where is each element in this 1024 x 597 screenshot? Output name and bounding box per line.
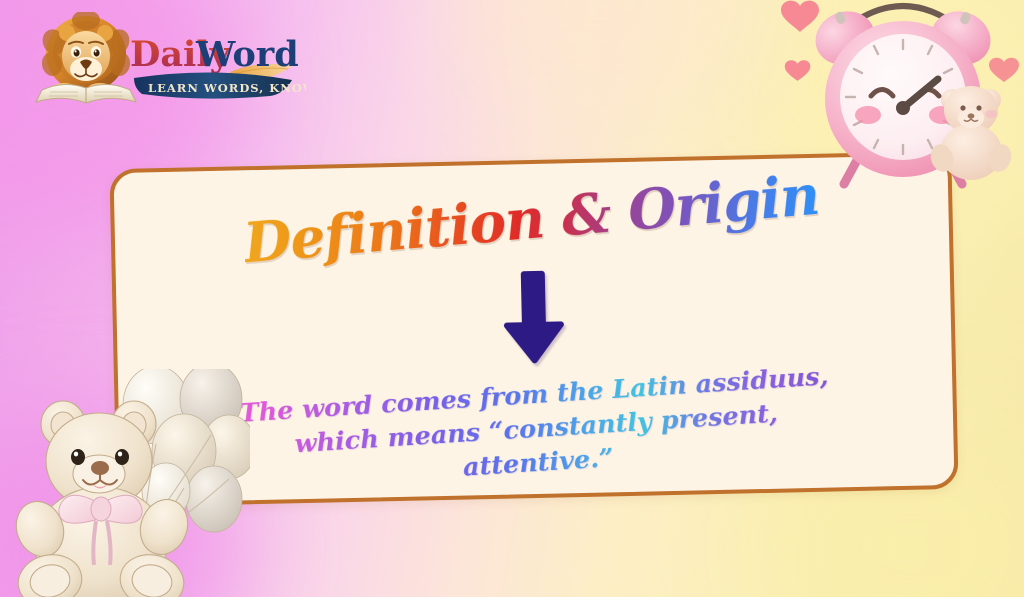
definition-body-text: The word comes from the Latin assiduus, … [204, 358, 869, 502]
page-title: Definition & Origin [241, 162, 822, 276]
lion-mascot-icon [39, 12, 134, 97]
teddy-bear-decoration [6, 369, 250, 597]
alarm-clock-decoration [778, 0, 1024, 190]
logo-word-word: Word [195, 34, 299, 75]
definition-line-3: attentive.” [462, 443, 615, 483]
brand-logo[interactable]: Daily Word Meaning LEARN WORDS, KNOW MEA… [34, 12, 306, 109]
background-blob-top-center [451, 0, 751, 120]
down-arrow-icon [498, 266, 570, 368]
logo-tagline: LEARN WORDS, KNOW MEANINGS [148, 81, 306, 95]
